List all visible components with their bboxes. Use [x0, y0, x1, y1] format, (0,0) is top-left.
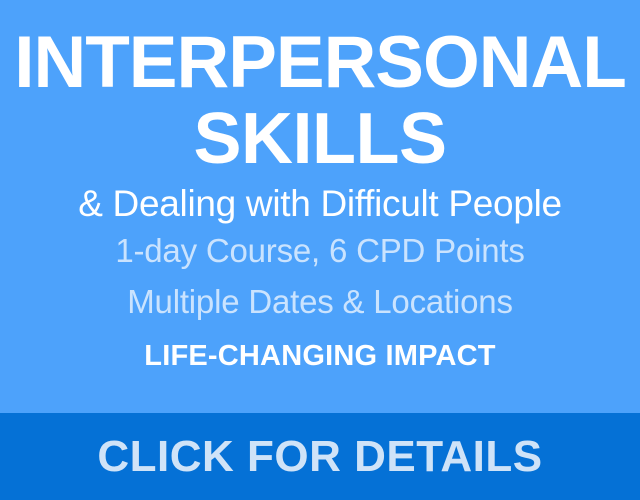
detail-course-duration: 1-day Course, 6 CPD Points — [115, 233, 524, 269]
subheadline: & Dealing with Difficult People — [78, 184, 562, 224]
headline-line-2: SKILLS — [193, 102, 446, 176]
ad-content-area: INTERPERSONAL SKILLS & Dealing with Diff… — [0, 0, 640, 413]
banner-advertisement[interactable]: INTERPERSONAL SKILLS & Dealing with Diff… — [0, 0, 640, 500]
headline-line-1: INTERPERSONAL — [14, 26, 626, 100]
cta-button-label: CLICK FOR DETAILS — [97, 433, 542, 481]
impact-statement: LIFE-CHANGING IMPACT — [144, 340, 495, 372]
detail-dates-locations: Multiple Dates & Locations — [127, 284, 513, 320]
cta-button[interactable]: CLICK FOR DETAILS — [0, 413, 640, 500]
